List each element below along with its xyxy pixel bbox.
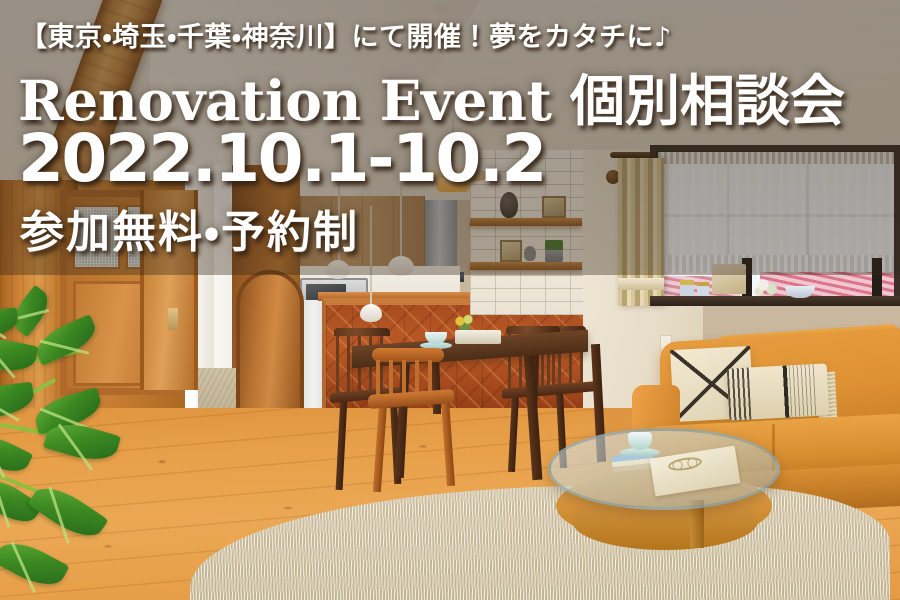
- event-title-ja: 個別相談会: [570, 68, 845, 133]
- plant-leaf: [0, 307, 19, 338]
- sill-flower-arrangement: [752, 276, 780, 298]
- plant-leaf: [0, 533, 69, 594]
- plant-leaf: [0, 428, 33, 479]
- headline-copy-block: 【東京・埼玉・千葉・神奈川】にて開催！夢をカタチに♪ Renovation Ev…: [20, 0, 890, 275]
- table-book: [455, 330, 501, 344]
- plant-leaf: [28, 477, 109, 546]
- sill-jar: [680, 280, 694, 296]
- curtain-tieback: [618, 278, 664, 290]
- sofa-cushion-striped: [727, 363, 830, 420]
- pendant-lamp-bulb: [360, 304, 382, 322]
- door-handle-icon: [168, 308, 178, 330]
- foreground-plant: [0, 300, 160, 600]
- event-banner: 【東京・埼玉・千葉・神奈川】にて開催！夢をカタチに♪ Renovation Ev…: [0, 0, 900, 600]
- plant-leaf: [31, 314, 101, 366]
- arched-wooden-door: [236, 270, 304, 420]
- dining-chair-back: [334, 328, 390, 336]
- sill-jar: [697, 282, 709, 296]
- plant-leaf: [0, 334, 38, 376]
- event-dates-line: 2022.10.1-10.2: [18, 120, 545, 197]
- catch-copy-line: 【東京・埼玉・千葉・神奈川】にて開催！夢をカタチに♪: [20, 15, 672, 54]
- plant-leaf: [0, 382, 36, 421]
- event-note-line: 参加無料・予約制: [20, 196, 359, 260]
